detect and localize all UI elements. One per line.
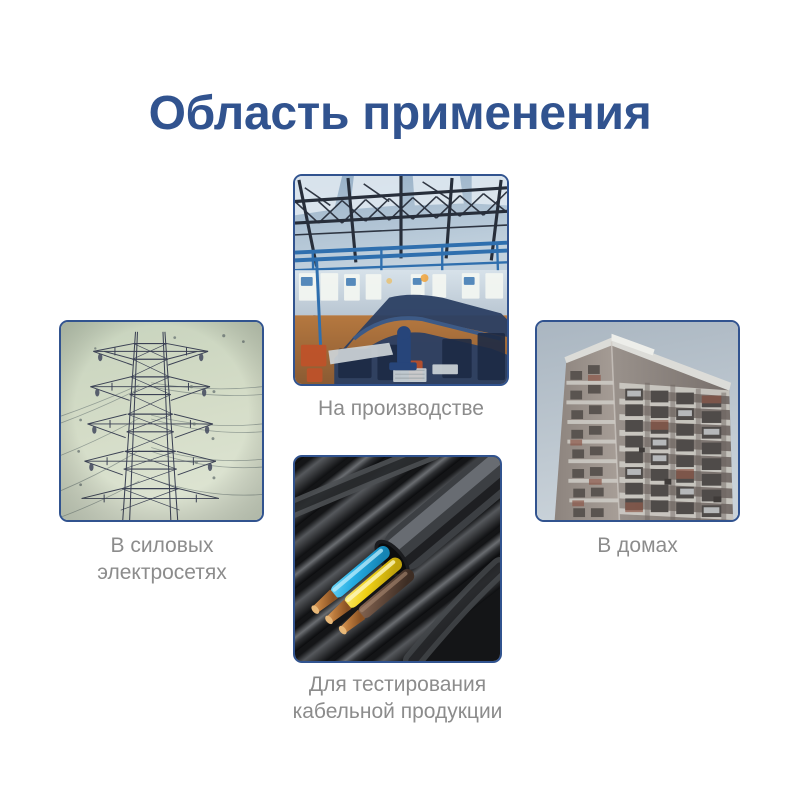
cable-factory-interior-photo [293,174,509,386]
application-slide: Область применения [0,0,800,800]
card-factory-caption: На производстве [283,395,519,422]
card-homes-caption: В домах [515,532,760,559]
black-power-cable-photo [293,455,502,663]
card-power-grid-caption: В силовых электросетях [31,532,293,587]
card-cable-testing-caption: Для тестирования кабельной продукции [245,671,550,726]
power-transmission-tower-photo [59,320,264,522]
page-title: Область применения [0,86,800,141]
apartment-building-photo [535,320,740,522]
